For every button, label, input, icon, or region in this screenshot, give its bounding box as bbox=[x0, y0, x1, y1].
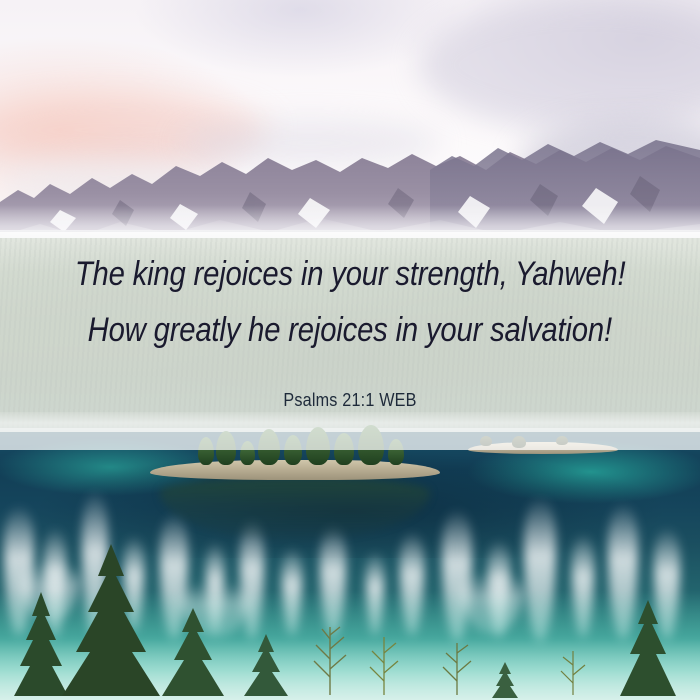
pine-tree bbox=[610, 596, 686, 700]
verse-line-1: The king rejoices in your strength, Yahw… bbox=[75, 246, 626, 302]
pine-tree bbox=[236, 630, 296, 700]
bare-branch bbox=[356, 633, 412, 700]
verse-line-2: How greatly he rejoices in your salvatio… bbox=[88, 302, 612, 358]
bare-branch bbox=[300, 621, 360, 700]
bare-branch bbox=[430, 637, 484, 700]
bare-branch bbox=[548, 645, 598, 700]
verse-reference: Psalms 21:1 WEB bbox=[283, 390, 416, 411]
foreground-trees bbox=[0, 540, 700, 700]
verse-image-card: The king rejoices in your strength, Yahw… bbox=[0, 0, 700, 700]
verse-overlay-panel: The king rejoices in your strength, Yahw… bbox=[0, 232, 700, 450]
pine-tree bbox=[150, 604, 236, 700]
pine-sapling bbox=[488, 660, 522, 700]
